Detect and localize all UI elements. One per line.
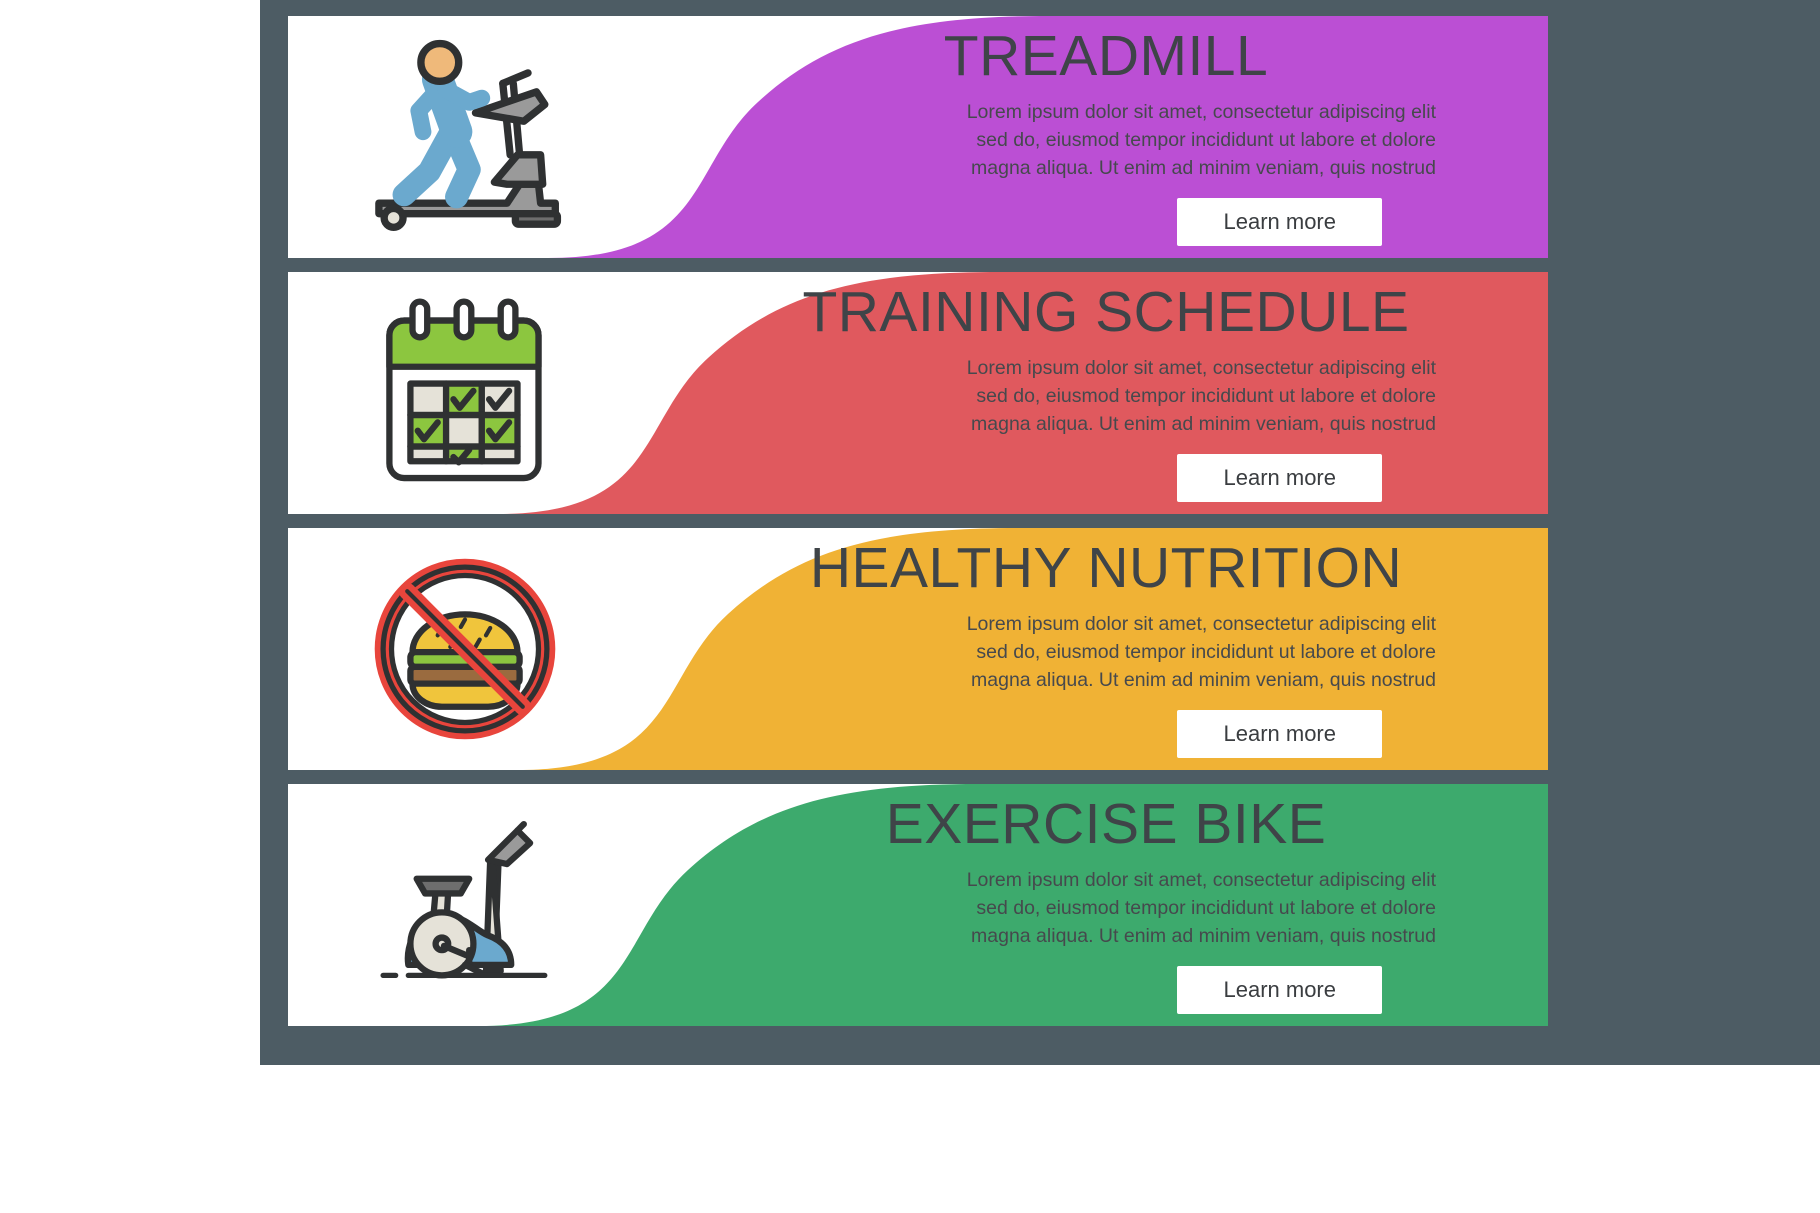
- no-junk-food-icon: [360, 549, 570, 749]
- banner-description: Lorem ipsum dolor sit amet, consectetur …: [776, 867, 1470, 950]
- desc-line-3: magna aliqua. Ut enim ad minim veniam, q…: [776, 411, 1436, 439]
- calendar-checks-icon: [360, 293, 570, 493]
- banner-treadmill[interactable]: TREADMILL Lorem ipsum dolor sit amet, co…: [288, 16, 1548, 258]
- banner-description: Lorem ipsum dolor sit amet, consectetur …: [776, 355, 1470, 438]
- banner-title: TRAINING SCHEDULE: [776, 284, 1470, 341]
- desc-line-1: Lorem ipsum dolor sit amet, consectetur …: [776, 611, 1436, 639]
- banner-title: TREADMILL: [776, 28, 1470, 85]
- poster-canvas: TREADMILL Lorem ipsum dolor sit amet, co…: [0, 0, 1820, 1213]
- banner-title: HEALTHY NUTRITION: [776, 540, 1470, 597]
- desc-line-1: Lorem ipsum dolor sit amet, consectetur …: [776, 867, 1436, 895]
- desc-line-2: sed do, eiusmod tempor incididunt ut lab…: [776, 895, 1436, 923]
- desc-line-3: magna aliqua. Ut enim ad minim veniam, q…: [776, 155, 1436, 183]
- banner-content-training-schedule: TRAINING SCHEDULE Lorem ipsum dolor sit …: [776, 272, 1496, 514]
- banner-healthy-nutrition[interactable]: HEALTHY NUTRITION Lorem ipsum dolor sit …: [288, 528, 1548, 770]
- treadmill-icon: [360, 37, 570, 237]
- banner-content-exercise-bike: EXERCISE BIKE Lorem ipsum dolor sit amet…: [776, 784, 1496, 1026]
- banner-frame: TREADMILL Lorem ipsum dolor sit amet, co…: [260, 0, 1820, 1065]
- desc-line-1: Lorem ipsum dolor sit amet, consectetur …: [776, 99, 1436, 127]
- desc-line-2: sed do, eiusmod tempor incididunt ut lab…: [776, 383, 1436, 411]
- desc-line-3: magna aliqua. Ut enim ad minim veniam, q…: [776, 667, 1436, 695]
- desc-line-1: Lorem ipsum dolor sit amet, consectetur …: [776, 355, 1436, 383]
- banner-content-healthy-nutrition: HEALTHY NUTRITION Lorem ipsum dolor sit …: [776, 528, 1496, 770]
- desc-line-2: sed do, eiusmod tempor incididunt ut lab…: [776, 639, 1436, 667]
- learn-more-button[interactable]: Learn more: [1177, 710, 1382, 757]
- exercise-bike-icon: [360, 805, 570, 1005]
- learn-more-button[interactable]: Learn more: [1177, 966, 1382, 1013]
- banner-training-schedule[interactable]: TRAINING SCHEDULE Lorem ipsum dolor sit …: [288, 272, 1548, 514]
- learn-more-button[interactable]: Learn more: [1177, 198, 1382, 245]
- banner-description: Lorem ipsum dolor sit amet, consectetur …: [776, 611, 1470, 694]
- learn-more-button[interactable]: Learn more: [1177, 454, 1382, 501]
- banner-description: Lorem ipsum dolor sit amet, consectetur …: [776, 99, 1470, 182]
- banner-title: EXERCISE BIKE: [776, 796, 1470, 853]
- banner-exercise-bike[interactable]: EXERCISE BIKE Lorem ipsum dolor sit amet…: [288, 784, 1548, 1026]
- desc-line-2: sed do, eiusmod tempor incididunt ut lab…: [776, 127, 1436, 155]
- banner-content-treadmill: TREADMILL Lorem ipsum dolor sit amet, co…: [776, 16, 1496, 258]
- desc-line-3: magna aliqua. Ut enim ad minim veniam, q…: [776, 923, 1436, 951]
